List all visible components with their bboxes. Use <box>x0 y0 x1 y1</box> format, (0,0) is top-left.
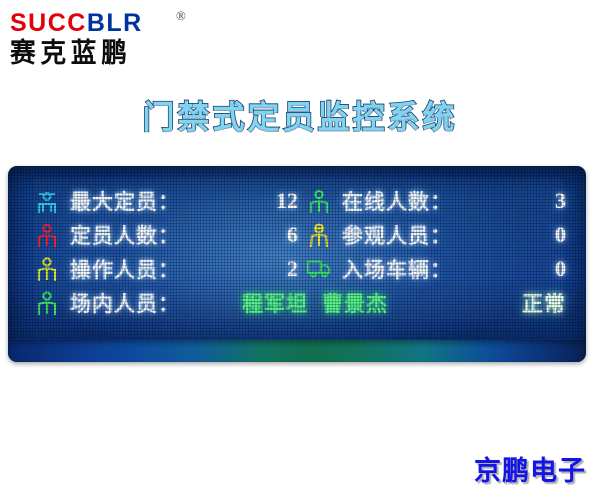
stat-value: 3 <box>555 188 566 214</box>
stat-value: 2 <box>287 256 298 282</box>
stat-label: 参观人员： <box>342 220 452 250</box>
stat-value: 0 <box>555 222 566 248</box>
stat-value: 6 <box>287 222 298 248</box>
stat-vehicle-count: 入场车辆： 0 <box>306 252 566 286</box>
stat-online-count: 在线人数： 3 <box>306 184 566 218</box>
stat-label: 在线人数： <box>342 186 452 216</box>
stat-label: 定员人数： <box>70 220 180 250</box>
brand-wordmark-red: SUCC <box>10 9 87 37</box>
stat-onsite-personnel: 场内人员： 程军坦 曹景杰 正常 <box>34 286 566 320</box>
stat-label: 操作人员： <box>70 254 180 284</box>
person-yellow-icon <box>34 255 60 283</box>
led-row: 操作人员： 2 入场车辆： 0 <box>34 252 566 286</box>
person-hardhat-icon <box>34 187 60 215</box>
person-red-icon <box>34 221 60 249</box>
person-green-icon <box>34 289 60 317</box>
registered-trademark-icon: ® <box>176 8 186 24</box>
person-visitor-icon <box>306 221 332 249</box>
page-title: 门禁式定员监控系统 <box>0 92 600 138</box>
truck-icon <box>306 255 332 283</box>
stat-max-capacity: 最大定员： 12 <box>34 184 302 218</box>
led-row-onsite: 场内人员： 程军坦 曹景杰 正常 <box>34 286 566 320</box>
onsite-name-list: 程军坦 曹景杰 <box>242 286 388 320</box>
led-row: 定员人数： 6 参观人员： 0 <box>34 218 566 252</box>
status-badge: 正常 <box>522 286 566 320</box>
stat-registered-count: 定员人数： 6 <box>34 218 302 252</box>
person-outline-icon <box>306 187 332 215</box>
stat-label: 最大定员： <box>70 186 180 216</box>
led-content: 最大定员： 12 在线人数： 3 <box>34 184 566 322</box>
list-item: 曹景杰 <box>322 288 388 318</box>
footer-brand-name: 京鹏电子 <box>474 449 586 488</box>
stat-visitor-count: 参观人员： 0 <box>306 218 566 252</box>
brand-wordmark: SUCCBLR <box>10 10 143 36</box>
list-item: 程军坦 <box>242 288 308 318</box>
stat-value: 0 <box>555 256 566 282</box>
stat-value: 12 <box>276 188 298 214</box>
led-display-panel: 最大定员： 12 在线人数： 3 <box>8 166 586 362</box>
brand-wordmark-blue: BLR <box>87 9 143 37</box>
stat-label: 场内人员： <box>70 288 180 318</box>
brand-chinese-name: 赛克蓝鹏 <box>10 37 132 70</box>
led-row: 最大定员： 12 在线人数： 3 <box>34 184 566 218</box>
company-logo: SUCCBLR ® 赛克蓝鹏 <box>8 8 218 74</box>
stat-label: 入场车辆： <box>342 254 452 284</box>
led-panel-bottom-edge <box>8 340 586 362</box>
stat-operator-count: 操作人员： 2 <box>34 252 302 286</box>
